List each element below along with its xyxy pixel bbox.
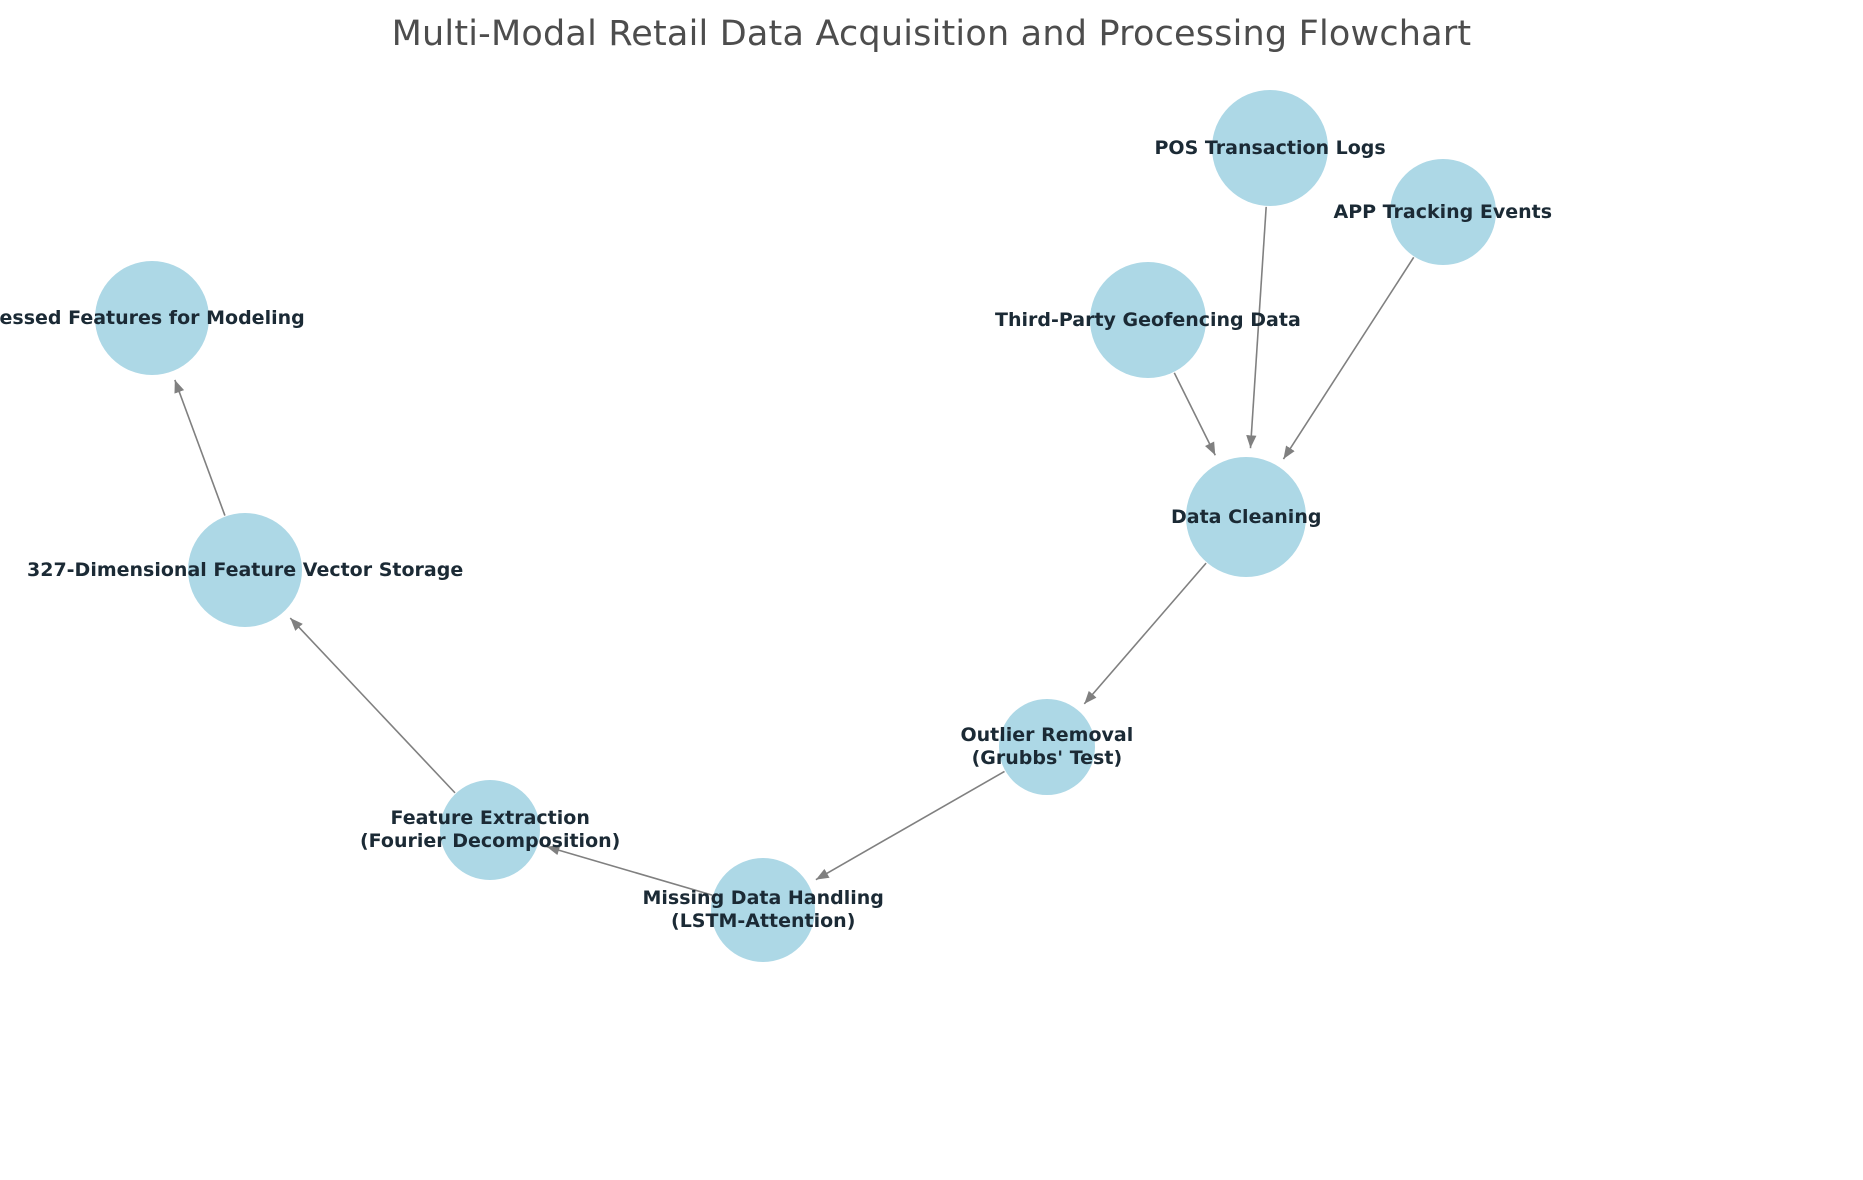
node-outlier[interactable] xyxy=(999,699,1095,795)
edge-app-to-clean xyxy=(1283,257,1413,459)
node-missing[interactable] xyxy=(711,858,815,962)
edge-storage-to-modeling xyxy=(175,380,225,516)
node-layer xyxy=(95,90,1496,962)
node-clean[interactable] xyxy=(1186,457,1306,577)
node-modeling[interactable] xyxy=(95,261,209,375)
edge-geo-to-clean xyxy=(1174,373,1215,455)
node-storage[interactable] xyxy=(188,513,302,627)
graph-svg xyxy=(0,0,1863,1180)
edge-clean-to-outlier xyxy=(1084,563,1206,704)
edge-pos-to-clean xyxy=(1250,207,1266,448)
edge-outlier-to-missing xyxy=(816,771,1005,879)
edge-feature-to-storage xyxy=(290,618,455,793)
node-feature[interactable] xyxy=(440,780,540,880)
flowchart-canvas: Multi-Modal Retail Data Acquisition and … xyxy=(0,0,1863,1180)
edge-missing-to-feature xyxy=(547,847,713,896)
node-pos[interactable] xyxy=(1212,90,1328,206)
node-app[interactable] xyxy=(1390,159,1496,265)
node-geo[interactable] xyxy=(1090,262,1206,378)
